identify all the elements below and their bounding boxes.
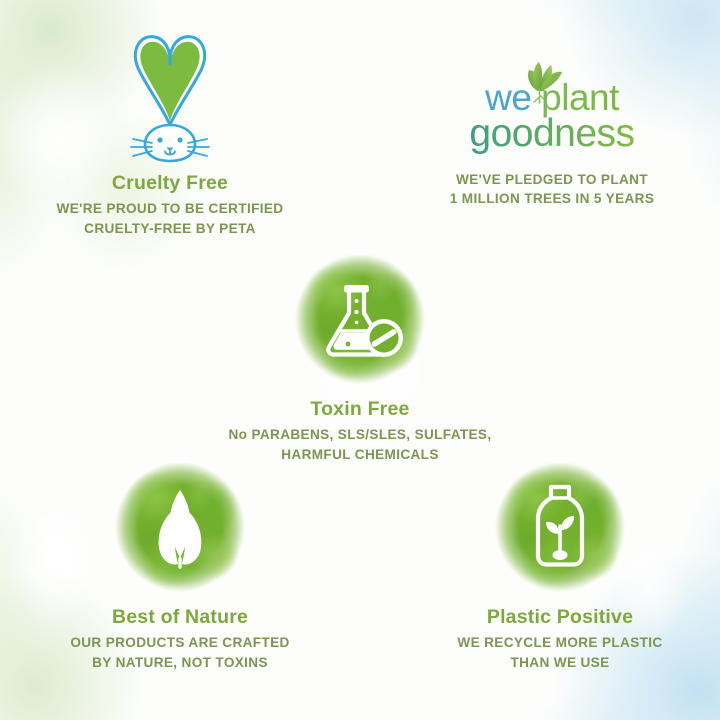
best-of-nature-headline: Best of Nature	[20, 606, 340, 628]
cruelty-free-bunny-heart-icon	[105, 24, 235, 164]
plastic-positive-badge	[493, 460, 627, 594]
bottle-sprout-icon	[493, 460, 627, 594]
feature-toxin-free: Toxin Free No PARABENS, SLS/SLES, SULFAT…	[200, 252, 520, 464]
flask-no-toxins-icon	[293, 252, 427, 386]
best-of-nature-caption: OUR PRODUCTS ARE CRAFTED BY NATURE, NOT …	[20, 633, 340, 672]
toxin-free-caption: No PARABENS, SLS/SLES, SULFATES, HARMFUL…	[200, 425, 520, 464]
cruelty-free-caption: WE'RE PROUD TO BE CERTIFIED CRUELTY-FREE…	[10, 199, 330, 238]
best-of-nature-badge	[113, 460, 247, 594]
cruelty-free-headline: Cruelty Free	[10, 172, 330, 194]
plastic-positive-headline: Plastic Positive	[400, 606, 720, 628]
brand-values-infographic: Cruelty Free WE'RE PROUD TO BE CERTIFIED…	[0, 0, 720, 720]
plastic-positive-caption: WE RECYCLE MORE PLASTIC THAN WE USE	[400, 633, 720, 672]
toxin-free-badge	[293, 252, 427, 386]
we-plant-goodness-caption: WE'VE PLEDGED TO PLANT 1 MILLION TREES I…	[392, 170, 712, 209]
feature-cruelty-free: Cruelty Free WE'RE PROUD TO BE CERTIFIED…	[10, 24, 330, 238]
feature-plastic-positive: Plastic Positive WE RECYCLE MORE PLASTIC…	[400, 460, 720, 672]
toxin-free-headline: Toxin Free	[200, 398, 520, 420]
three-leaves-icon	[113, 460, 247, 594]
logo-line-goodness: goodness	[469, 112, 634, 155]
feature-best-of-nature: Best of Nature OUR PRODUCTS ARE CRAFTED …	[20, 460, 340, 672]
feature-we-plant-goodness: we plant goodness WE'VE PLEDGED TO PLANT…	[392, 60, 712, 209]
we-plant-goodness-logo: we plant goodness	[444, 60, 660, 156]
